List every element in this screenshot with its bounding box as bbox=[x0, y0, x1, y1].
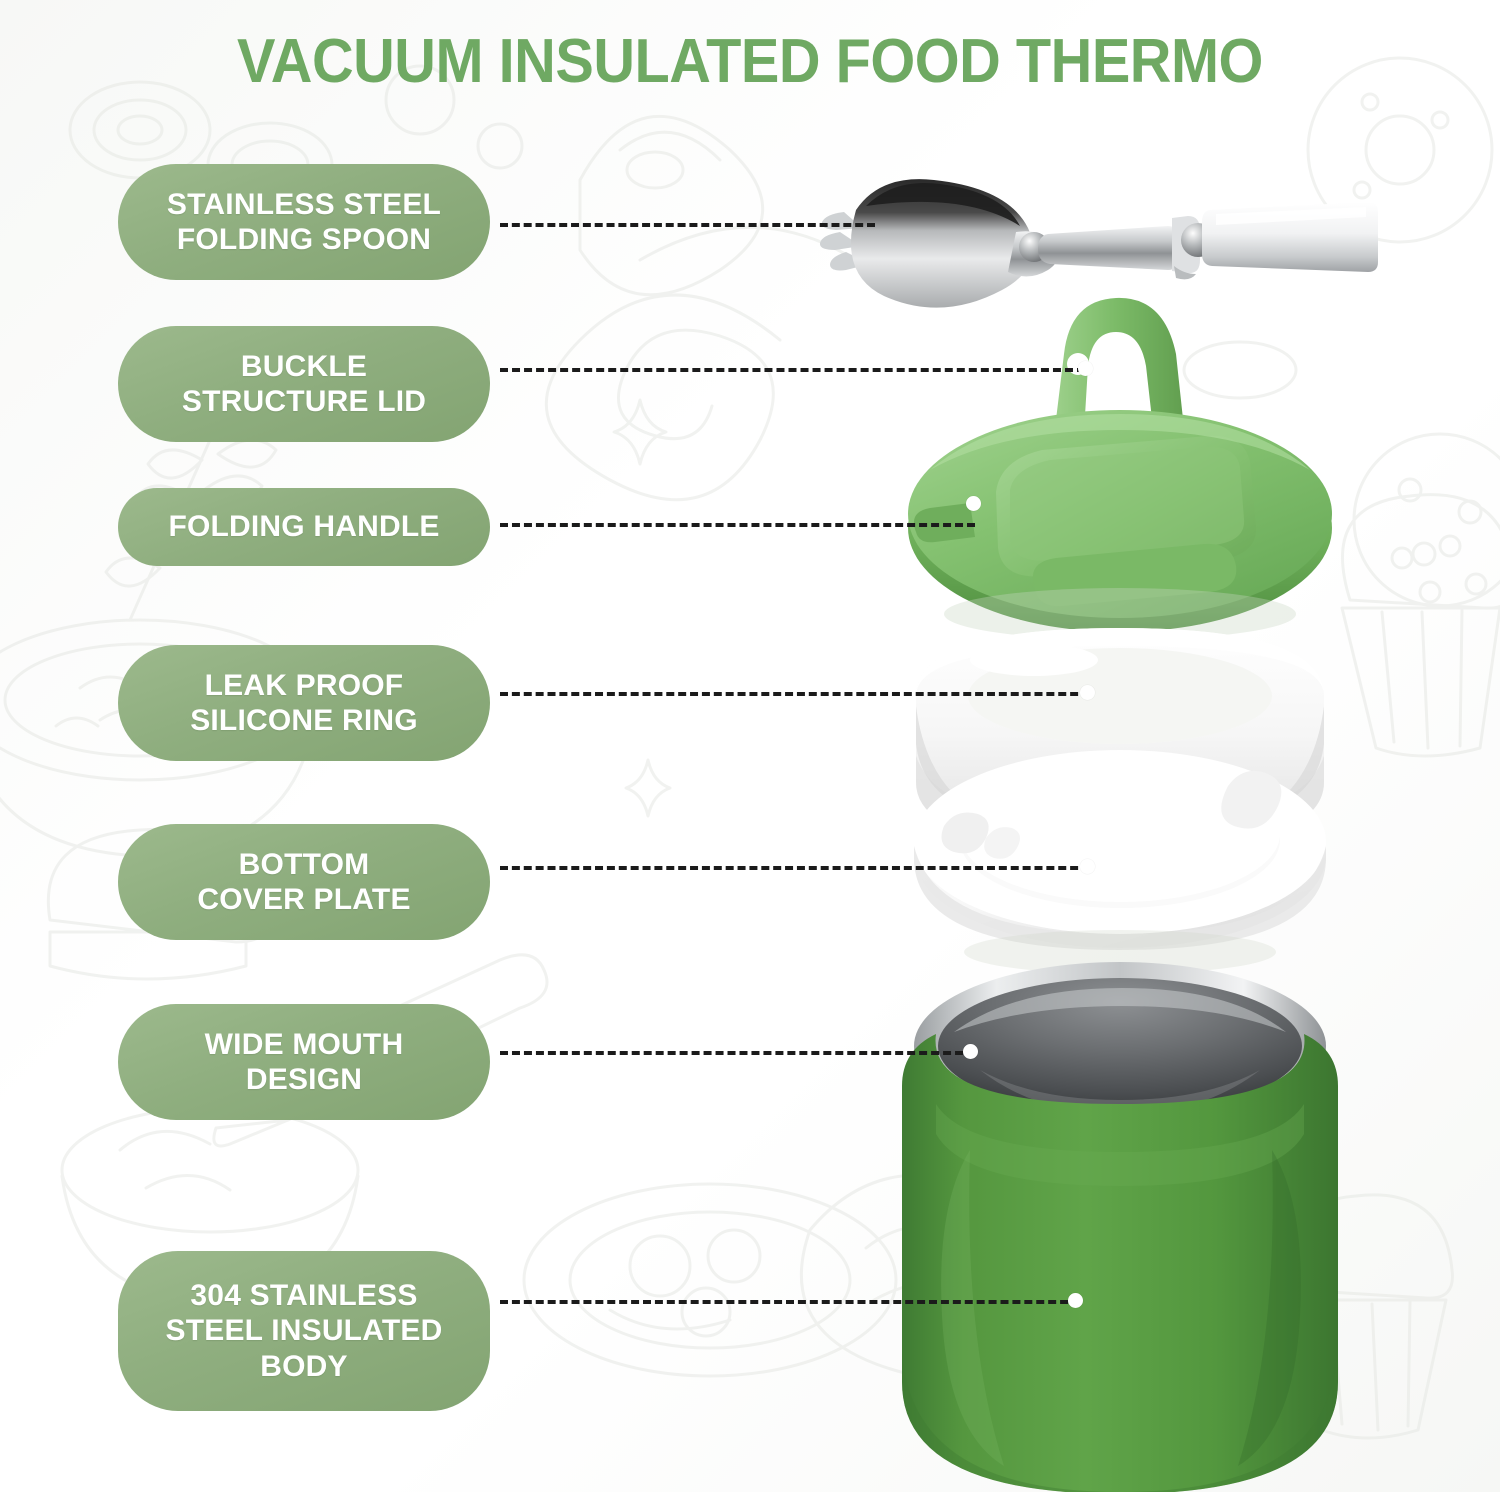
callout-pill-leak-proof-silicone-ring[interactable]: LEAK PROOF SILICONE RING bbox=[118, 645, 490, 761]
callout-pill-304-stainless-steel-insulated-body[interactable]: 304 STAINLESS STEEL INSULATED BODY bbox=[118, 1251, 490, 1411]
leader-line-bottom-cover-plate bbox=[500, 866, 1090, 870]
callout-pill-bottom-cover-plate[interactable]: BOTTOM COVER PLATE bbox=[118, 824, 490, 940]
leader-endpoint-dot-bottom-cover-plate bbox=[1080, 859, 1095, 874]
leader-endpoint-dot-304-stainless-steel-insulated-body bbox=[1068, 1293, 1083, 1308]
leader-endpoint-dot-folding-handle bbox=[966, 496, 981, 511]
cover-plate-art bbox=[914, 750, 1326, 974]
leader-endpoint-dot-wide-mouth-design bbox=[963, 1044, 978, 1059]
leader-line-stainless-steel-folding-spoon bbox=[500, 223, 875, 227]
page-title: VACUUM INSULATED FOOD THERMO bbox=[53, 26, 1448, 97]
callout-pill-folding-handle[interactable]: FOLDING HANDLE bbox=[118, 488, 490, 566]
leader-line-folding-handle bbox=[500, 523, 975, 527]
callout-label-wide-mouth-design: WIDE MOUTH DESIGN bbox=[205, 1027, 404, 1097]
leader-line-wide-mouth-design bbox=[500, 1051, 975, 1055]
callout-label-leak-proof-silicone-ring: LEAK PROOF SILICONE RING bbox=[190, 668, 418, 738]
leader-endpoint-dot-leak-proof-silicone-ring bbox=[1080, 685, 1095, 700]
callout-pill-stainless-steel-folding-spoon[interactable]: STAINLESS STEEL FOLDING SPOON bbox=[118, 164, 490, 280]
buckle-lid-art bbox=[908, 298, 1332, 640]
insulated-body-art bbox=[902, 962, 1338, 1492]
callout-label-buckle-structure-lid: BUCKLE STRUCTURE LID bbox=[182, 349, 426, 419]
callout-label-bottom-cover-plate: BOTTOM COVER PLATE bbox=[197, 847, 410, 917]
leader-line-buckle-structure-lid bbox=[500, 368, 1085, 372]
callout-label-304-stainless-steel-insulated-body: 304 STAINLESS STEEL INSULATED BODY bbox=[166, 1278, 443, 1383]
leader-line-304-stainless-steel-insulated-body bbox=[500, 1300, 1080, 1304]
product-exploded-view bbox=[820, 140, 1440, 1492]
callout-pill-wide-mouth-design[interactable]: WIDE MOUTH DESIGN bbox=[118, 1004, 490, 1120]
infographic-canvas: VACUUM INSULATED FOOD THERMO bbox=[0, 0, 1500, 1492]
folding-spork-art bbox=[820, 179, 1378, 308]
leader-line-leak-proof-silicone-ring bbox=[500, 692, 1090, 696]
callout-label-stainless-steel-folding-spoon: STAINLESS STEEL FOLDING SPOON bbox=[167, 187, 441, 257]
callout-label-folding-handle: FOLDING HANDLE bbox=[168, 509, 439, 544]
callout-pill-buckle-structure-lid[interactable]: BUCKLE STRUCTURE LID bbox=[118, 326, 490, 442]
leader-endpoint-dot-buckle-structure-lid bbox=[1078, 361, 1093, 376]
